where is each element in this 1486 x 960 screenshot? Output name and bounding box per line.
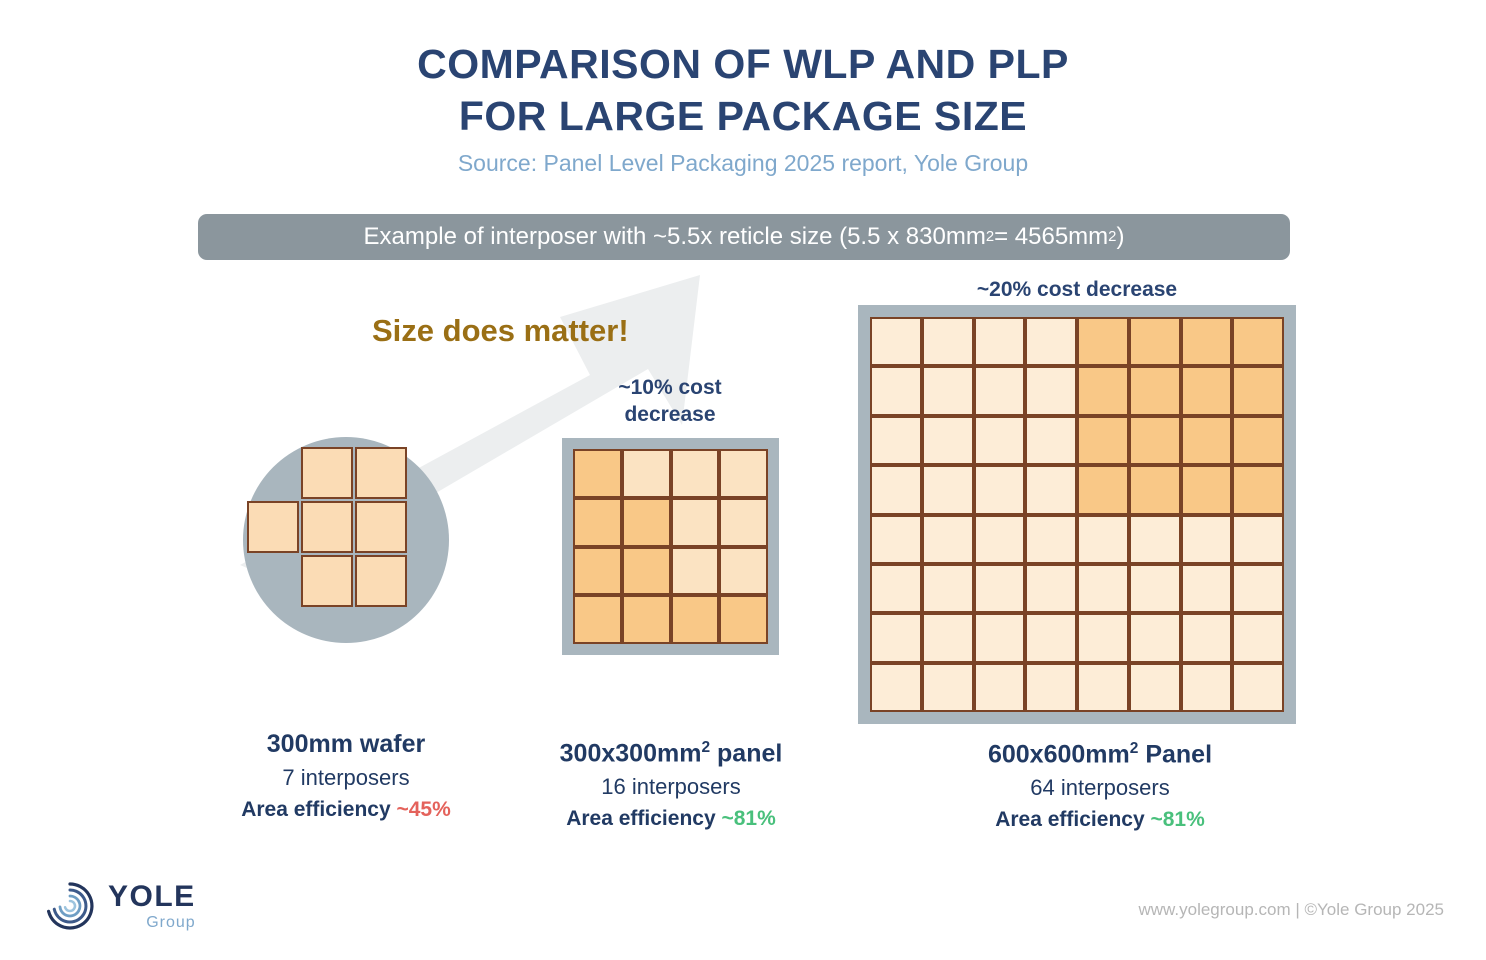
caption-wafer: 300mm wafer 7 interposers Area efficienc… bbox=[223, 727, 469, 826]
caption-wafer-title: 300mm wafer bbox=[223, 727, 469, 761]
interposer-cell bbox=[719, 547, 768, 596]
interposer-cell bbox=[1077, 564, 1129, 613]
yole-spiral-icon bbox=[42, 878, 98, 934]
caption-panel-300-efficiency-label: Area efficiency bbox=[566, 807, 715, 830]
interposer-cell bbox=[1232, 317, 1284, 366]
banner-text-before: Example of interposer with ~5.5x reticle… bbox=[364, 223, 986, 251]
source-subtitle: Source: Panel Level Packaging 2025 repor… bbox=[0, 150, 1486, 177]
interposer-cell bbox=[922, 366, 974, 415]
interposer-cell bbox=[671, 547, 720, 596]
banner-text-middle: = 4565mm bbox=[994, 223, 1108, 251]
caption-wafer-count: 7 interposers bbox=[223, 761, 469, 794]
banner-sup-1: 2 bbox=[986, 229, 994, 245]
caption-wafer-efficiency-label: Area efficiency bbox=[241, 798, 390, 821]
interposer-cell bbox=[622, 449, 671, 498]
interposer-cell bbox=[974, 515, 1026, 564]
interposer-cell bbox=[1077, 663, 1129, 712]
interposer-cell bbox=[1232, 515, 1284, 564]
logo-name: YOLE bbox=[108, 882, 196, 912]
caption-panel-300-title-after: panel bbox=[710, 739, 782, 767]
panel-300mm-diagram bbox=[562, 438, 779, 655]
caption-panel-300-title-sup: 2 bbox=[701, 739, 710, 756]
interposer-cell bbox=[1232, 663, 1284, 712]
interposer-cell bbox=[974, 366, 1026, 415]
panel-600mm-diagram bbox=[858, 305, 1296, 724]
title-block: COMPARISON OF WLP AND PLP FOR LARGE PACK… bbox=[0, 38, 1486, 177]
interposer-cell bbox=[1181, 416, 1233, 465]
interposer-cell bbox=[1077, 613, 1129, 662]
caption-panel-600-count: 64 interposers bbox=[925, 771, 1275, 804]
interposer-cell bbox=[1025, 317, 1077, 366]
caption-panel-300-count: 16 interposers bbox=[533, 770, 809, 803]
caption-panel-300-title: 300x300mm2 panel bbox=[533, 731, 809, 770]
interposer-cell bbox=[922, 317, 974, 366]
interposer-cell bbox=[671, 498, 720, 547]
interposer-cell bbox=[1129, 317, 1181, 366]
interposer-cell bbox=[1025, 663, 1077, 712]
interposer-cell bbox=[870, 663, 922, 712]
size-does-matter-label: Size does matter! bbox=[372, 313, 629, 349]
interposer-cell bbox=[573, 449, 622, 498]
interposer-cell bbox=[719, 449, 768, 498]
interposer-cell bbox=[719, 498, 768, 547]
interposer-cell bbox=[1129, 366, 1181, 415]
interposer-cell bbox=[870, 564, 922, 613]
interposer-cell bbox=[1025, 515, 1077, 564]
caption-panel-300: 300x300mm2 panel 16 interposers Area eff… bbox=[533, 731, 809, 835]
interposer-cell bbox=[1232, 613, 1284, 662]
page-title-line-2: FOR LARGE PACKAGE SIZE bbox=[0, 90, 1486, 142]
interposer-cell bbox=[1077, 317, 1129, 366]
caption-panel-300-efficiency-value: ~81% bbox=[721, 807, 775, 830]
interposer-cell bbox=[622, 498, 671, 547]
caption-panel-600-title-before: 600x600mm bbox=[988, 740, 1130, 768]
interposer-cell bbox=[870, 613, 922, 662]
caption-wafer-efficiency-value: ~45% bbox=[396, 798, 450, 821]
interposer-cell bbox=[922, 564, 974, 613]
interposer-cell bbox=[1129, 564, 1181, 613]
interposer-cell bbox=[870, 465, 922, 514]
interposer-cell bbox=[1181, 663, 1233, 712]
interposer-cell bbox=[1129, 515, 1181, 564]
caption-panel-600-efficiency: Area efficiency ~81% bbox=[925, 804, 1275, 836]
cost-decrease-10-label: ~10% cost decrease bbox=[600, 374, 740, 428]
interposer-cell bbox=[622, 595, 671, 644]
interposer-size-banner: Example of interposer with ~5.5x reticle… bbox=[198, 214, 1290, 260]
interposer-cell bbox=[922, 663, 974, 712]
interposer-cell bbox=[1077, 416, 1129, 465]
caption-panel-600-title-after: Panel bbox=[1138, 740, 1212, 768]
interposer-cell bbox=[573, 547, 622, 596]
cost-decrease-20-label: ~20% cost decrease bbox=[862, 278, 1292, 302]
interposer-cell bbox=[974, 613, 1026, 662]
logo-text: YOLE Group bbox=[108, 882, 196, 931]
interposer-cell bbox=[870, 366, 922, 415]
caption-panel-600-title: 600x600mm2 Panel bbox=[925, 732, 1275, 771]
interposer-cell bbox=[1077, 465, 1129, 514]
interposer-cell bbox=[1077, 515, 1129, 564]
interposer-cell bbox=[1181, 613, 1233, 662]
page-title-line-1: COMPARISON OF WLP AND PLP bbox=[0, 38, 1486, 90]
interposer-cell bbox=[719, 595, 768, 644]
interposer-cell bbox=[1181, 366, 1233, 415]
interposer-cell bbox=[1025, 465, 1077, 514]
yole-group-logo: YOLE Group bbox=[42, 878, 196, 934]
caption-panel-600: 600x600mm2 Panel 64 interposers Area eff… bbox=[925, 732, 1275, 836]
interposer-cell bbox=[870, 416, 922, 465]
wafer-300mm-diagram bbox=[243, 437, 449, 643]
footer-copyright: www.yolegroup.com | ©Yole Group 2025 bbox=[1139, 900, 1445, 920]
interposer-cell bbox=[622, 547, 671, 596]
panel-600-grid bbox=[870, 317, 1284, 712]
interposer-cell bbox=[974, 465, 1026, 514]
interposer-cell bbox=[922, 613, 974, 662]
interposer-cell bbox=[1025, 366, 1077, 415]
interposer-cell bbox=[1129, 663, 1181, 712]
wafer-die bbox=[355, 555, 407, 607]
interposer-cell bbox=[1129, 416, 1181, 465]
interposer-cell bbox=[671, 595, 720, 644]
interposer-cell bbox=[1181, 515, 1233, 564]
caption-wafer-efficiency: Area efficiency ~45% bbox=[223, 794, 469, 826]
banner-sup-2: 2 bbox=[1108, 229, 1116, 245]
interposer-cell bbox=[1232, 564, 1284, 613]
wafer-die bbox=[301, 447, 353, 499]
banner-text-after: ) bbox=[1116, 223, 1124, 251]
interposer-cell bbox=[1129, 613, 1181, 662]
wafer-die bbox=[355, 501, 407, 553]
caption-panel-600-efficiency-label: Area efficiency bbox=[995, 808, 1144, 831]
interposer-cell bbox=[1077, 366, 1129, 415]
panel-300-grid bbox=[573, 449, 768, 644]
interposer-cell bbox=[1232, 416, 1284, 465]
logo-subname: Group bbox=[108, 915, 196, 931]
interposer-cell bbox=[573, 595, 622, 644]
interposer-cell bbox=[1181, 564, 1233, 613]
interposer-cell bbox=[1181, 317, 1233, 366]
interposer-cell bbox=[974, 416, 1026, 465]
interposer-cell bbox=[922, 515, 974, 564]
interposer-cell bbox=[870, 317, 922, 366]
caption-panel-600-efficiency-value: ~81% bbox=[1150, 808, 1204, 831]
interposer-cell bbox=[922, 416, 974, 465]
caption-panel-300-title-before: 300x300mm bbox=[560, 739, 702, 767]
interposer-cell bbox=[974, 564, 1026, 613]
wafer-die bbox=[355, 447, 407, 499]
interposer-cell bbox=[870, 515, 922, 564]
interposer-cell bbox=[1025, 613, 1077, 662]
interposer-cell bbox=[671, 449, 720, 498]
interposer-cell bbox=[1025, 564, 1077, 613]
interposer-cell bbox=[1232, 465, 1284, 514]
interposer-cell bbox=[573, 498, 622, 547]
wafer-die bbox=[301, 501, 353, 553]
wafer-die bbox=[301, 555, 353, 607]
wafer-die bbox=[247, 501, 299, 553]
interposer-cell bbox=[1129, 465, 1181, 514]
interposer-cell bbox=[1025, 416, 1077, 465]
caption-panel-300-efficiency: Area efficiency ~81% bbox=[533, 803, 809, 835]
interposer-cell bbox=[974, 663, 1026, 712]
interposer-cell bbox=[1181, 465, 1233, 514]
interposer-cell bbox=[974, 317, 1026, 366]
interposer-cell bbox=[1232, 366, 1284, 415]
interposer-cell bbox=[922, 465, 974, 514]
